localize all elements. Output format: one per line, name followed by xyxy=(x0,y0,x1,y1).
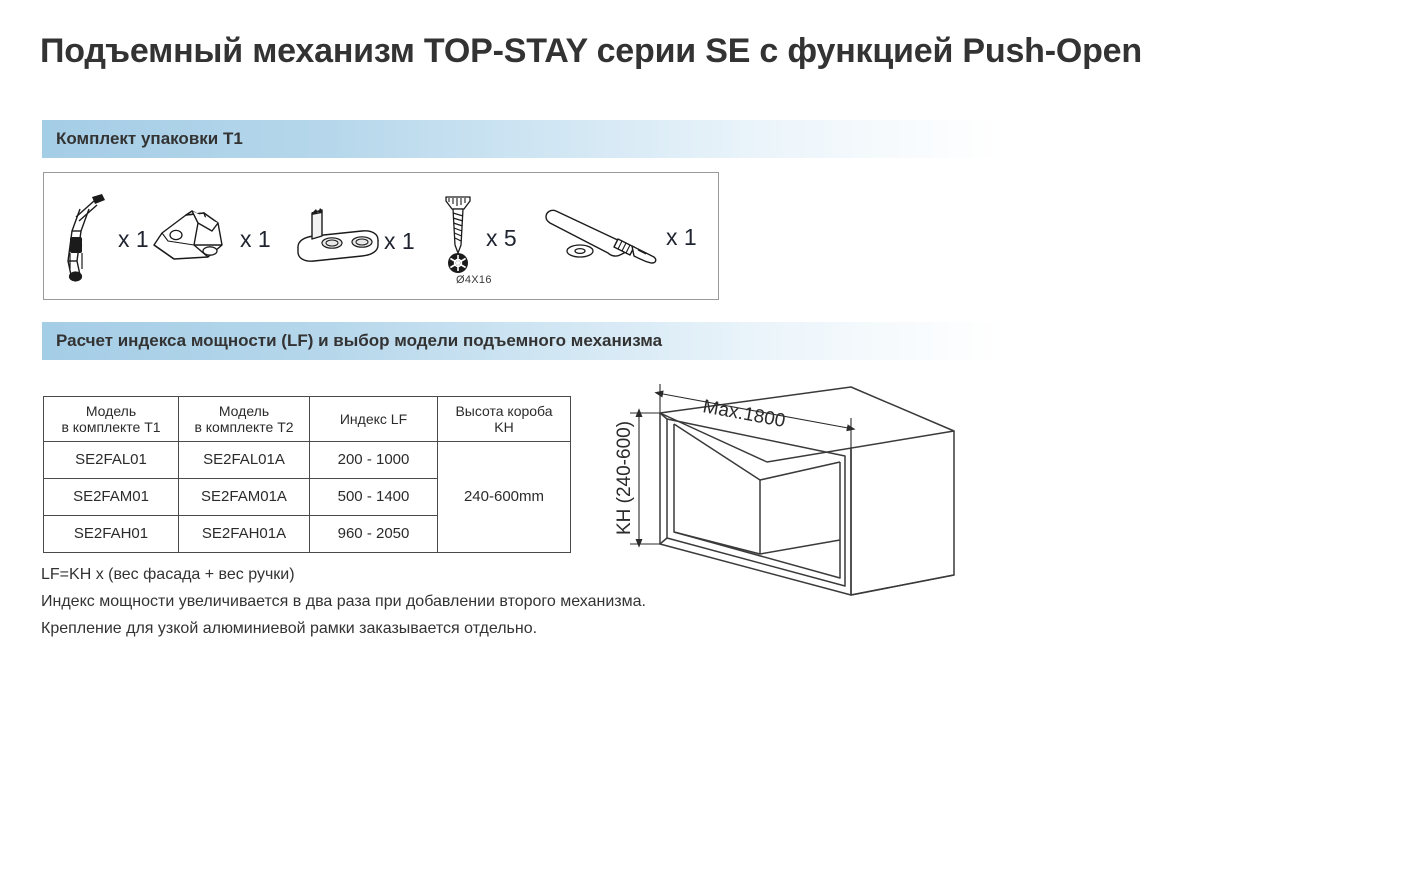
table-cell-lf-index: 200 - 1000 xyxy=(310,442,438,479)
kit-part-adjustment-tool-qty: x 1 xyxy=(666,224,697,251)
kit-part-mounting-bracket-qty: x 1 xyxy=(240,226,271,253)
table-header-model-t1-line1: Модель xyxy=(86,403,136,419)
section-header-lf-label: Расчет индекса мощности (LF) и выбор мод… xyxy=(42,331,662,351)
lf-model-table: Модель в комплекте T1 Модель в комплекте… xyxy=(43,396,571,553)
table-header-cabinet-height-line1: Высота короба xyxy=(455,403,552,419)
table-cell-model-t2: SE2FAL01A xyxy=(179,442,310,479)
diagram-height-dimension: KH (240-600) xyxy=(614,421,635,535)
table-cell-lf-index: 960 - 2050 xyxy=(310,516,438,553)
note-line-formula: LF=KH x (вес фасада + вес ручки) xyxy=(41,561,646,588)
gas-strut-icon xyxy=(56,191,118,288)
notes-block: LF=KH x (вес фасада + вес ручки) Индекс … xyxy=(41,561,646,642)
table-cell-cabinet-height-merged: 240-600mm xyxy=(438,442,571,553)
table-cell-model-t2: SE2FAM01A xyxy=(179,479,310,516)
table-header-model-t2: Модель в комплекте T2 xyxy=(179,397,310,442)
table-header-model-t2-line1: Модель xyxy=(219,403,269,419)
table-cell-model-t1: SE2FAH01 xyxy=(44,516,179,553)
table-cell-lf-index: 500 - 1400 xyxy=(310,479,438,516)
table-header-lf-index: Индекс LF xyxy=(310,397,438,442)
table-cell-model-t1: SE2FAL01 xyxy=(44,442,179,479)
page-title: Подъемный механизм TOP-STAY серии SE с ф… xyxy=(40,32,1142,71)
table-header-cabinet-height: Высота короба KH xyxy=(438,397,571,442)
kit-parts-box: x 1 x 1 xyxy=(43,172,719,300)
adjustment-tool-icon xyxy=(542,203,666,272)
kit-part-screw-qty: x 5 xyxy=(486,225,517,252)
cabinet-diagram: Max.1800 KH (240-600) xyxy=(592,372,982,622)
push-open-plate-icon xyxy=(292,207,384,276)
table-cell-model-t2: SE2FAH01A xyxy=(179,516,310,553)
table-cell-model-t1: SE2FAM01 xyxy=(44,479,179,516)
kit-part-adjustment-tool: x 1 xyxy=(542,203,697,272)
table-header-cabinet-height-line2: KH xyxy=(494,419,513,435)
note-line-alu-frame: Крепление для узкой алюминиевой рамки за… xyxy=(41,615,646,642)
kit-part-push-open-plate: x 1 xyxy=(292,207,415,276)
table-header-model-t1-line2: в комплекте T1 xyxy=(61,419,160,435)
table-header-model-t2-line2: в комплекте T2 xyxy=(194,419,293,435)
table-row: SE2FAL01 SE2FAL01A 200 - 1000 240-600mm xyxy=(44,442,571,479)
section-header-lf: Расчет индекса мощности (LF) и выбор мод… xyxy=(42,322,1002,360)
kit-part-push-open-plate-qty: x 1 xyxy=(384,228,415,255)
table-header-model-t1: Модель в комплекте T1 xyxy=(44,397,179,442)
mounting-bracket-icon xyxy=(148,201,240,278)
kit-part-gas-strut-qty: x 1 xyxy=(118,226,149,253)
kit-part-mounting-bracket: x 1 xyxy=(148,201,271,278)
note-line-double-mechanism: Индекс мощности увеличивается в два раза… xyxy=(41,588,646,615)
screw-spec-label: Ø4X16 xyxy=(456,274,492,286)
section-header-kit: Комплект упаковки T1 xyxy=(42,120,1002,158)
kit-part-screw: x 5 xyxy=(436,191,517,286)
screw-icon xyxy=(436,191,486,286)
kit-part-gas-strut: x 1 xyxy=(56,191,149,288)
section-header-kit-label: Комплект упаковки T1 xyxy=(42,129,243,149)
table-header-row: Модель в комплекте T1 Модель в комплекте… xyxy=(44,397,571,442)
